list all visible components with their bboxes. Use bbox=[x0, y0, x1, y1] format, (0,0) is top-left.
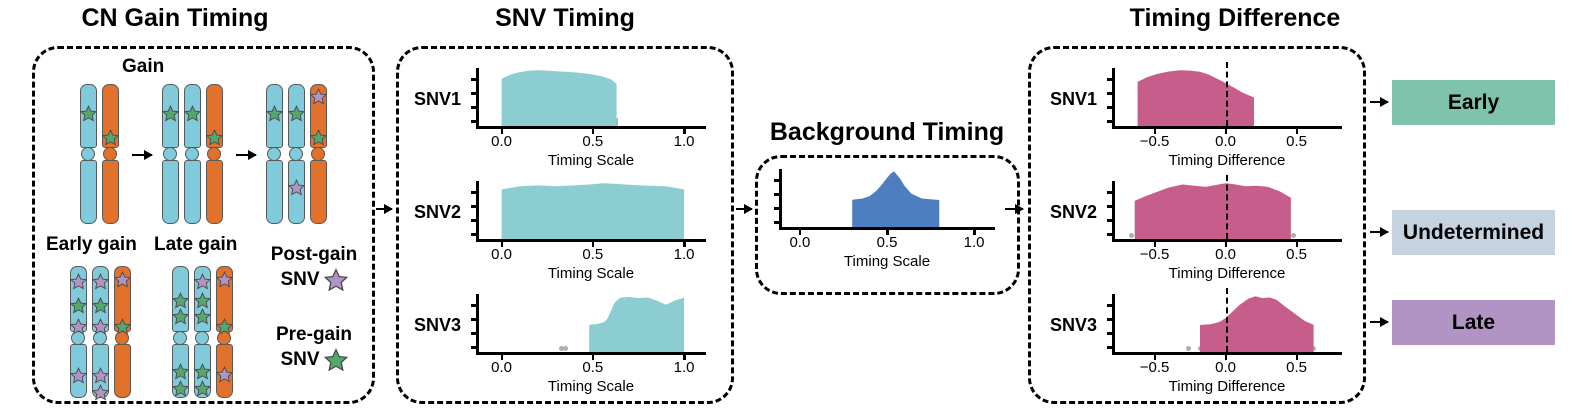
x-tick-label: 0.5 bbox=[1275, 246, 1319, 263]
centromere bbox=[103, 147, 117, 161]
x-axis-title: Timing Scale bbox=[521, 265, 661, 282]
centromere bbox=[311, 147, 325, 161]
legend-row-2: SNV bbox=[260, 268, 368, 292]
timing-difference-snv2: −0.50.00.5Timing DifferenceSNV2 bbox=[1112, 181, 1342, 285]
chromosome-early-a bbox=[70, 266, 87, 398]
snv-star-post-gain bbox=[92, 273, 109, 290]
panel-title-cn-gain-timing: CN Gain Timing bbox=[30, 4, 320, 33]
x-tick-label: −0.5 bbox=[1133, 133, 1177, 150]
x-tick-label: 0.0 bbox=[778, 234, 822, 251]
arrow-panel3-to-panel4 bbox=[1005, 208, 1023, 210]
snv-star-pre-gain bbox=[172, 363, 189, 380]
snv-star-pre-gain bbox=[92, 297, 109, 314]
density-curve bbox=[476, 294, 706, 352]
x-axis-title: Timing Scale bbox=[521, 152, 661, 169]
x-tick-label: 0.5 bbox=[571, 246, 615, 263]
snv-star-pre-gain bbox=[310, 129, 327, 146]
snv-star-pre-gain bbox=[172, 308, 189, 325]
x-tick-label: 0.5 bbox=[865, 234, 909, 251]
snv-star-post-gain bbox=[92, 318, 109, 335]
x-tick-label: 0.5 bbox=[571, 133, 615, 150]
centromere bbox=[267, 147, 281, 161]
arrow-panel1-to-panel2 bbox=[376, 208, 392, 210]
centromere bbox=[289, 147, 303, 161]
legend-pre-gain-snv: Pre-gainSNV bbox=[260, 324, 368, 372]
arrow-panel2-to-panel3 bbox=[736, 208, 752, 210]
chromosome-late-a bbox=[172, 266, 189, 398]
x-axis-title: Timing Difference bbox=[1157, 152, 1297, 169]
snv-star-post-gain bbox=[70, 318, 87, 335]
chromosome-g2-b bbox=[184, 84, 201, 224]
centromere bbox=[195, 331, 209, 345]
x-tick-label: 0.5 bbox=[571, 359, 615, 376]
panel-title-timing-difference: Timing Difference bbox=[1085, 4, 1385, 33]
snv-star-pre-gain bbox=[102, 129, 119, 146]
snv-star-pre-gain bbox=[206, 129, 223, 146]
snv-star-post-gain bbox=[288, 179, 305, 196]
snv-star-pre-gain bbox=[194, 308, 211, 325]
chromosome-late-c bbox=[216, 266, 233, 398]
panel-title-snv-timing: SNV Timing bbox=[420, 4, 710, 33]
x-tick-label: 1.0 bbox=[662, 359, 706, 376]
chromosome-g2-c bbox=[206, 84, 223, 224]
x-tick-label: −0.5 bbox=[1133, 359, 1177, 376]
chromosome-g3-b bbox=[288, 84, 305, 224]
chromosome-late-b bbox=[194, 266, 211, 398]
snv-star-pre-gain bbox=[194, 363, 211, 380]
x-tick-label: 0.0 bbox=[480, 133, 524, 150]
legend-post-gain-snv: Post-gainSNV bbox=[260, 244, 368, 292]
legend-label-line2: SNV bbox=[280, 269, 319, 291]
snv-timing-plots: 0.00.51.0Timing ScaleSNV10.00.51.0Timing… bbox=[396, 46, 734, 404]
arrow-to-late-box bbox=[1370, 321, 1388, 323]
snv-timing-snv2: 0.00.51.0Timing ScaleSNV2 bbox=[476, 181, 706, 285]
chromosome-arm-q bbox=[80, 160, 97, 224]
chromosome-arm-q bbox=[310, 160, 327, 224]
density-curve bbox=[476, 181, 706, 239]
centromere bbox=[185, 147, 199, 161]
snv-star-pre-gain bbox=[172, 292, 189, 309]
legend-label-line2: SNV bbox=[280, 349, 319, 371]
legend-star-icon bbox=[324, 348, 348, 372]
snv-star-post-gain bbox=[70, 367, 87, 384]
x-tick-label: −0.5 bbox=[1133, 246, 1177, 263]
result-box-early: Early bbox=[1392, 80, 1555, 125]
chromosome-early-c bbox=[114, 266, 131, 398]
chromosome-g3-c bbox=[310, 84, 327, 224]
snv-star-post-gain bbox=[114, 271, 131, 288]
x-tick-label: 0.0 bbox=[1204, 246, 1248, 263]
snv-star-post-gain bbox=[216, 271, 233, 288]
snv-star-post-gain bbox=[310, 88, 327, 105]
chromosome-arm-q bbox=[102, 160, 119, 224]
snv-star-pre-gain bbox=[194, 380, 211, 397]
snv-star-pre-gain bbox=[70, 297, 87, 314]
snv-star-post-gain bbox=[216, 366, 233, 383]
row-label: SNV3 bbox=[1050, 315, 1097, 336]
snv-star-pre-gain bbox=[288, 105, 305, 122]
chromosome-g3-a bbox=[266, 84, 283, 224]
snv-star-pre-gain bbox=[216, 318, 233, 335]
chromosome-arm-q bbox=[114, 344, 131, 398]
snv-star-post-gain bbox=[92, 367, 109, 384]
x-axis-title: Timing Difference bbox=[1157, 265, 1297, 282]
label-late-gain: Late gain bbox=[154, 234, 237, 256]
snv-star-pre-gain bbox=[114, 318, 131, 335]
row-label: SNV3 bbox=[414, 315, 461, 336]
snv-star-post-gain bbox=[92, 384, 109, 401]
cn-gain-diagram: GainEarly gainLate gainPost-gainSNVPre-g… bbox=[32, 46, 375, 404]
x-axis-title: Timing Difference bbox=[1157, 378, 1297, 395]
legend-star-icon bbox=[324, 268, 348, 292]
x-tick-label: 1.0 bbox=[662, 246, 706, 263]
x-tick-label: 0.5 bbox=[1275, 359, 1319, 376]
snv-star-pre-gain bbox=[162, 105, 179, 122]
snv-star-post-gain bbox=[194, 273, 211, 290]
x-tick-label: 1.0 bbox=[662, 133, 706, 150]
legend-row-2: SNV bbox=[260, 348, 368, 372]
label-early-gain: Early gain bbox=[46, 234, 137, 256]
background-timing: 0.00.51.0Timing Scale bbox=[779, 169, 995, 273]
snv-timing-snv1: 0.00.51.0Timing ScaleSNV1 bbox=[476, 68, 706, 172]
chromosome-g1-b bbox=[102, 84, 119, 224]
snv-star-pre-gain bbox=[172, 380, 189, 397]
row-label: SNV1 bbox=[414, 89, 461, 110]
arrow-gain-step2 bbox=[236, 154, 256, 156]
snv-star-post-gain bbox=[70, 273, 87, 290]
arrow-to-early-box bbox=[1370, 101, 1388, 103]
x-tick-label: 0.0 bbox=[480, 359, 524, 376]
x-tick-label: 0.0 bbox=[480, 246, 524, 263]
row-label: SNV2 bbox=[414, 202, 461, 223]
centromere bbox=[207, 147, 221, 161]
legend-label-line1: Post-gain bbox=[260, 244, 368, 266]
chromosome-arm-q bbox=[184, 160, 201, 224]
row-label: SNV1 bbox=[1050, 89, 1097, 110]
x-tick-label: 0.0 bbox=[1204, 359, 1248, 376]
density-curve bbox=[476, 68, 706, 126]
snv-star-pre-gain bbox=[80, 105, 97, 122]
x-tick-label: 0.5 bbox=[1275, 133, 1319, 150]
timing-difference-snv1: −0.50.00.5Timing DifferenceSNV1 bbox=[1112, 68, 1342, 172]
centromere bbox=[173, 331, 187, 345]
snv-star-pre-gain bbox=[266, 105, 283, 122]
chromosome-g1-a bbox=[80, 84, 97, 224]
chromosome-early-b bbox=[92, 266, 109, 398]
density-curve bbox=[779, 169, 995, 227]
chromosome-arm-q bbox=[162, 160, 179, 224]
zero-reference-line bbox=[1226, 175, 1228, 239]
arrow-gain-step1 bbox=[132, 154, 152, 156]
timing-difference-plots: −0.50.00.5Timing DifferenceSNV1−0.50.00.… bbox=[1028, 46, 1366, 404]
row-label: SNV2 bbox=[1050, 202, 1097, 223]
legend-label-line1: Pre-gain bbox=[260, 324, 368, 346]
chromosome-arm-q bbox=[266, 160, 283, 224]
zero-reference-line bbox=[1226, 288, 1228, 352]
timing-difference-snv3: −0.50.00.5Timing DifferenceSNV3 bbox=[1112, 294, 1342, 398]
result-box-undetermined: Undetermined bbox=[1392, 210, 1555, 255]
result-box-late: Late bbox=[1392, 300, 1555, 345]
background-timing-plot: 0.00.51.0Timing Scale bbox=[755, 155, 1020, 295]
classification-results: EarlyUndeterminedLate bbox=[1370, 0, 1570, 418]
x-axis-title: Timing Scale bbox=[521, 378, 661, 395]
snv-timing-snv3: 0.00.51.0Timing ScaleSNV3 bbox=[476, 294, 706, 398]
x-axis-title: Timing Scale bbox=[817, 253, 957, 270]
snv-star-pre-gain bbox=[184, 105, 201, 122]
centromere bbox=[163, 147, 177, 161]
zero-reference-line bbox=[1226, 62, 1228, 126]
centromere bbox=[81, 147, 95, 161]
snv-star-pre-gain bbox=[194, 292, 211, 309]
chromosome-arm-q bbox=[206, 160, 223, 224]
label-gain: Gain bbox=[122, 56, 164, 78]
chromosome-g2-a bbox=[162, 84, 179, 224]
x-tick-label: 0.0 bbox=[1204, 133, 1248, 150]
x-tick-label: 1.0 bbox=[952, 234, 996, 251]
arrow-to-undetermined-box bbox=[1370, 231, 1388, 233]
panel-title-background-timing: Background Timing bbox=[752, 118, 1022, 147]
